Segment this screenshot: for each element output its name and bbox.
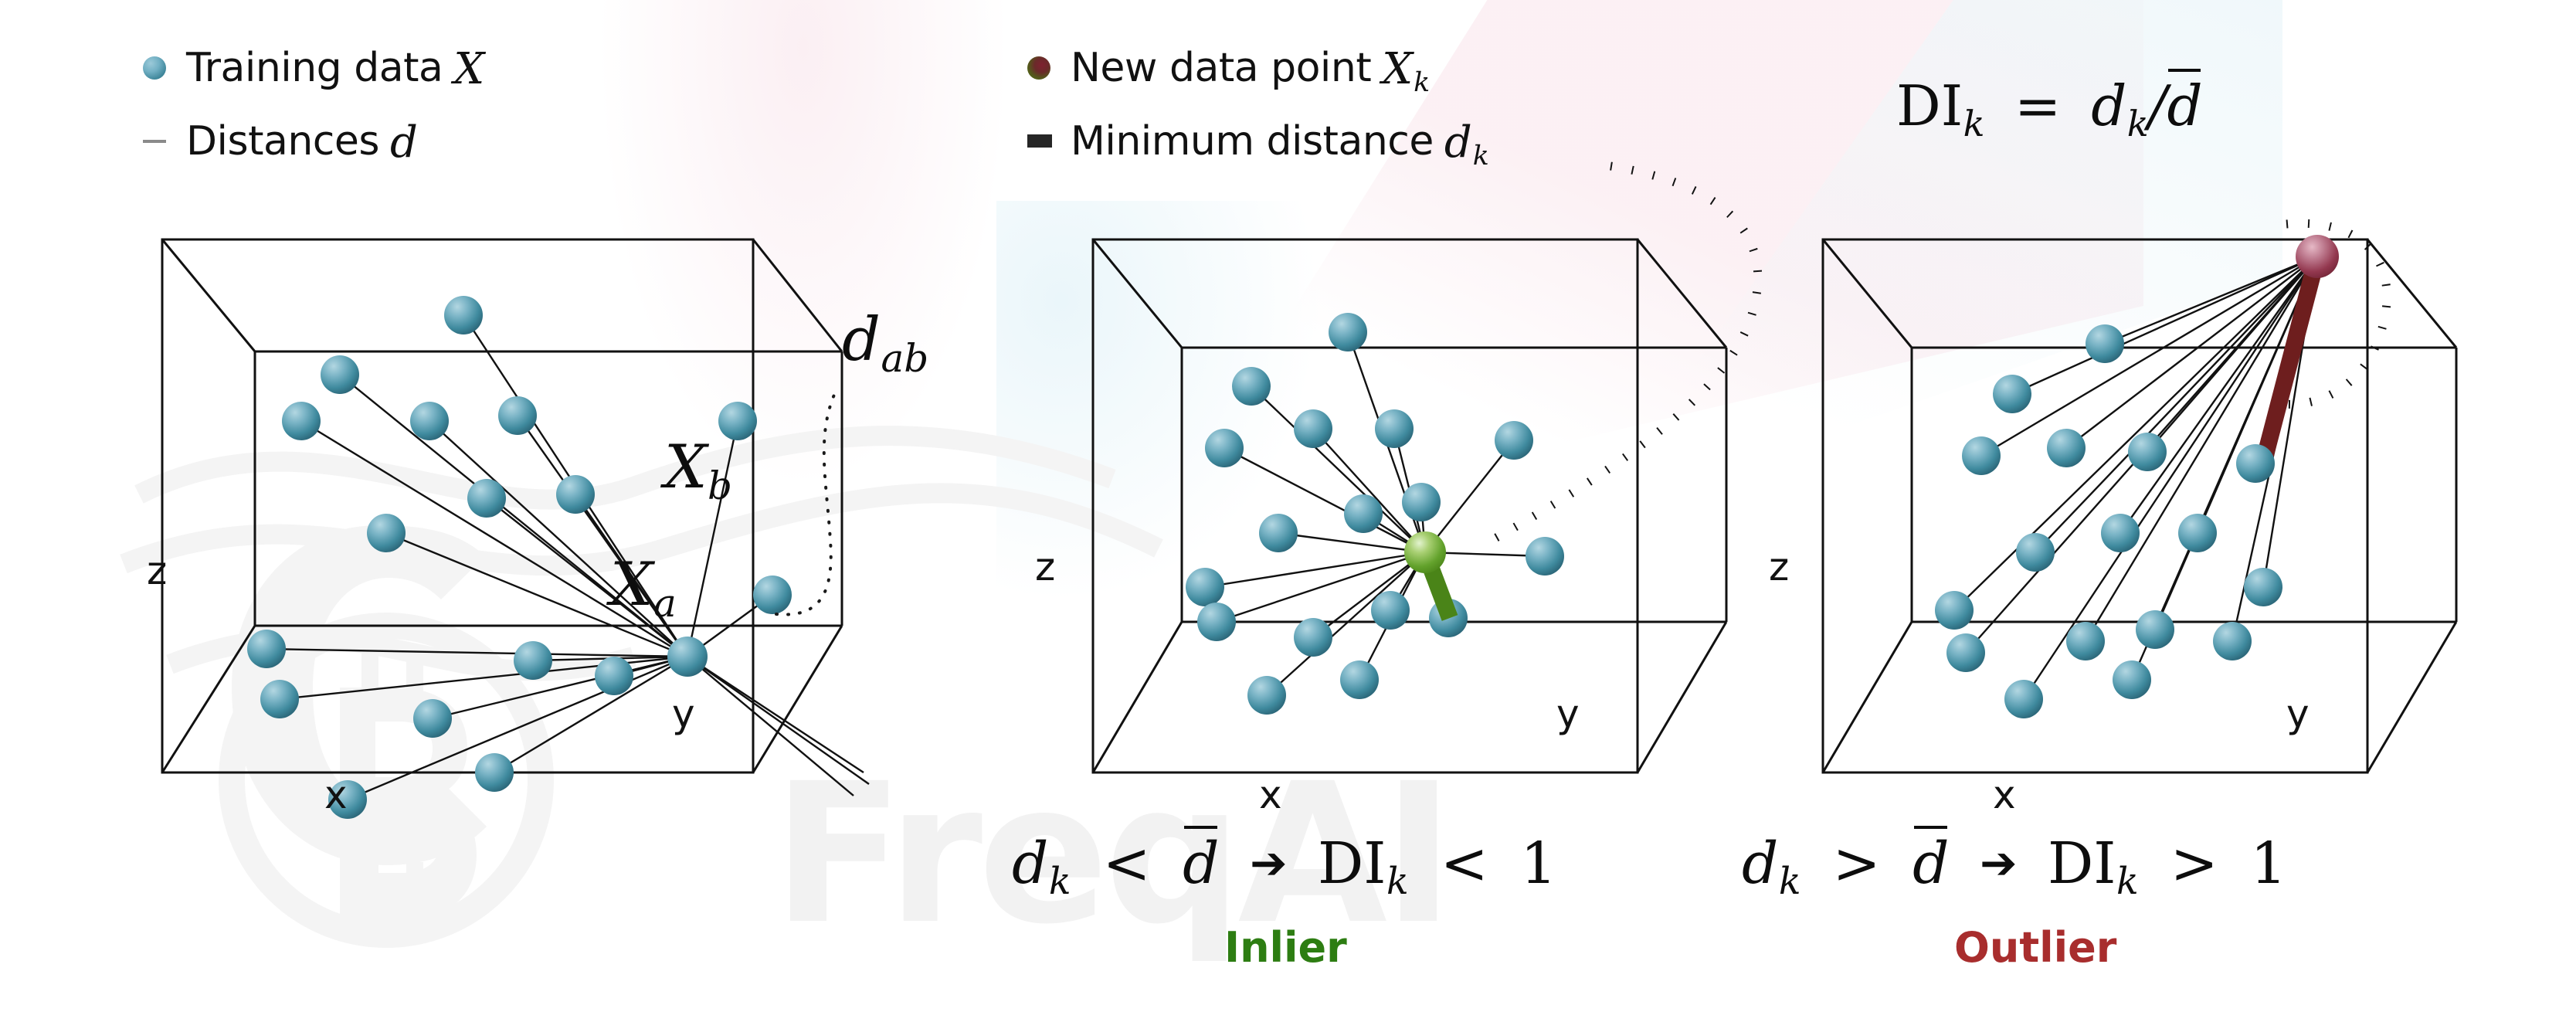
- panel-2-caption-word: Inlier: [1224, 923, 1347, 972]
- d-bar-outlier: d: [1912, 830, 1949, 897]
- panel-2-axis-z-label: z: [1035, 545, 1055, 589]
- panel-1-training-points: [247, 296, 792, 819]
- d-bar-inlier: d: [1183, 830, 1219, 897]
- panel-1-distance-lines: [266, 315, 869, 800]
- panel-2-axis-y-label: y: [1556, 691, 1580, 736]
- panel-2-new-data-point: [1404, 531, 1446, 573]
- figure-root: FreqAI Training data X Distances d New d…: [0, 0, 2576, 1022]
- label-xa: Xa: [610, 550, 676, 620]
- panel-1-axis-y-label: y: [672, 691, 695, 736]
- panel-3-caption-word: Outlier: [1954, 923, 2116, 972]
- panel-2-axis-x-label: x: [1259, 772, 1282, 817]
- panel-1-axis-z-label: z: [147, 548, 167, 593]
- panel-3-axis-z-label: z: [1769, 545, 1789, 589]
- panel-2-training-points: [1186, 313, 1564, 715]
- panel-1-axis-x-label: x: [324, 772, 348, 817]
- panel-3-axis-y-label: y: [2286, 691, 2310, 736]
- panel-3-axis-x-label: x: [1993, 772, 2016, 817]
- label-dab: dab: [842, 305, 928, 375]
- leader-to-inlier: [1491, 166, 1758, 541]
- panel-1-point-xa: [667, 637, 708, 677]
- panel-3-training-points: [1935, 324, 2282, 718]
- label-xb: Xb: [664, 433, 731, 502]
- panel-3-new-data-point: [2296, 235, 2339, 278]
- d-ab-leader-line: [776, 386, 838, 615]
- panel-3-caption-math: dk > d ➔ DIk > 1: [1742, 830, 2286, 897]
- panel-2-caption-math: dk < d ➔ DIk < 1: [1012, 830, 1556, 897]
